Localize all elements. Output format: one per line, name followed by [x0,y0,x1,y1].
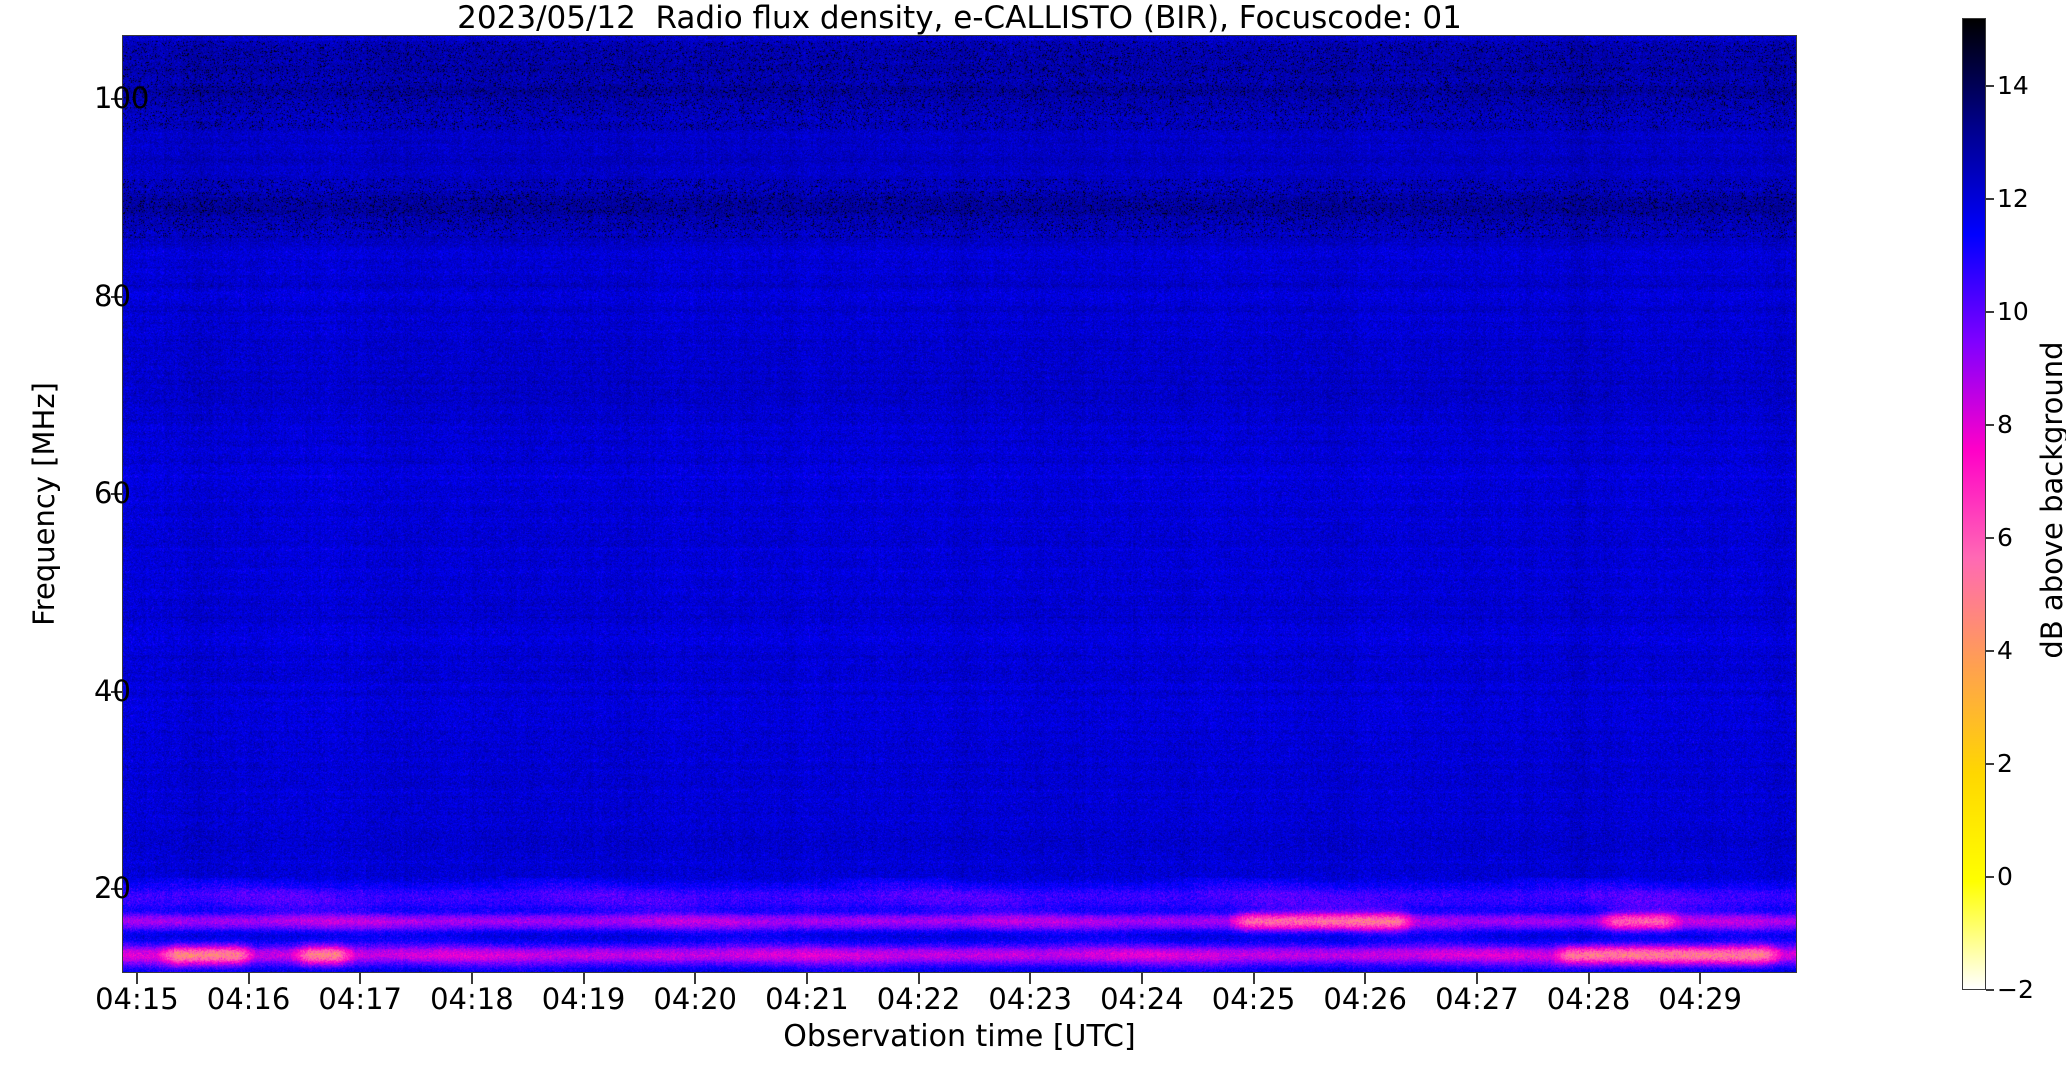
x-axis-label: Observation time [UTC] [122,1020,1797,1054]
y-tick-label: 60 [94,479,122,508]
colorbar-tick-label: 4 [1997,638,2013,663]
colorbar-tick-mark [1986,85,1994,87]
y-tick-label: 20 [94,874,122,903]
colorbar-tick-mark [1986,650,1994,652]
colorbar-tick-label: 12 [1997,186,2029,211]
y-axis-label: Frequency [MHz] [26,35,62,973]
spectrogram-axes[interactable] [122,35,1797,973]
spectrogram-heatmap[interactable] [123,36,1796,972]
colorbar[interactable] [1962,18,1986,990]
colorbar-tick-label: 6 [1997,525,2013,550]
colorbar-gradient [1962,18,1986,990]
y-tick-label: 40 [94,677,122,706]
colorbar-tick-label: −2 [1997,977,2034,1002]
colorbar-tick-label: 2 [1997,751,2013,776]
colorbar-tick-label: 10 [1997,299,2029,324]
colorbar-tick-mark [1986,876,1994,878]
colorbar-tick-label: 14 [1997,73,2029,98]
colorbar-tick-mark [1986,537,1994,539]
colorbar-tick-mark [1986,198,1994,200]
x-tick-label: 04:29 [1630,983,1770,1015]
colorbar-tick-label: 0 [1997,864,2013,889]
colorbar-tick-mark [1986,989,1994,991]
y-tick-label: 100 [94,84,122,113]
page-title: 2023/05/12 Radio flux density, e-CALLIST… [122,2,1797,35]
colorbar-label: dB above background [2035,140,2066,860]
colorbar-tick-label: 8 [1997,412,2013,437]
figure-canvas: 2023/05/12 Radio flux density, e-CALLIST… [0,0,2066,1067]
colorbar-tick-mark [1986,424,1994,426]
colorbar-tick-mark [1986,311,1994,313]
y-tick-label: 80 [94,282,122,311]
colorbar-tick-mark [1986,763,1994,765]
